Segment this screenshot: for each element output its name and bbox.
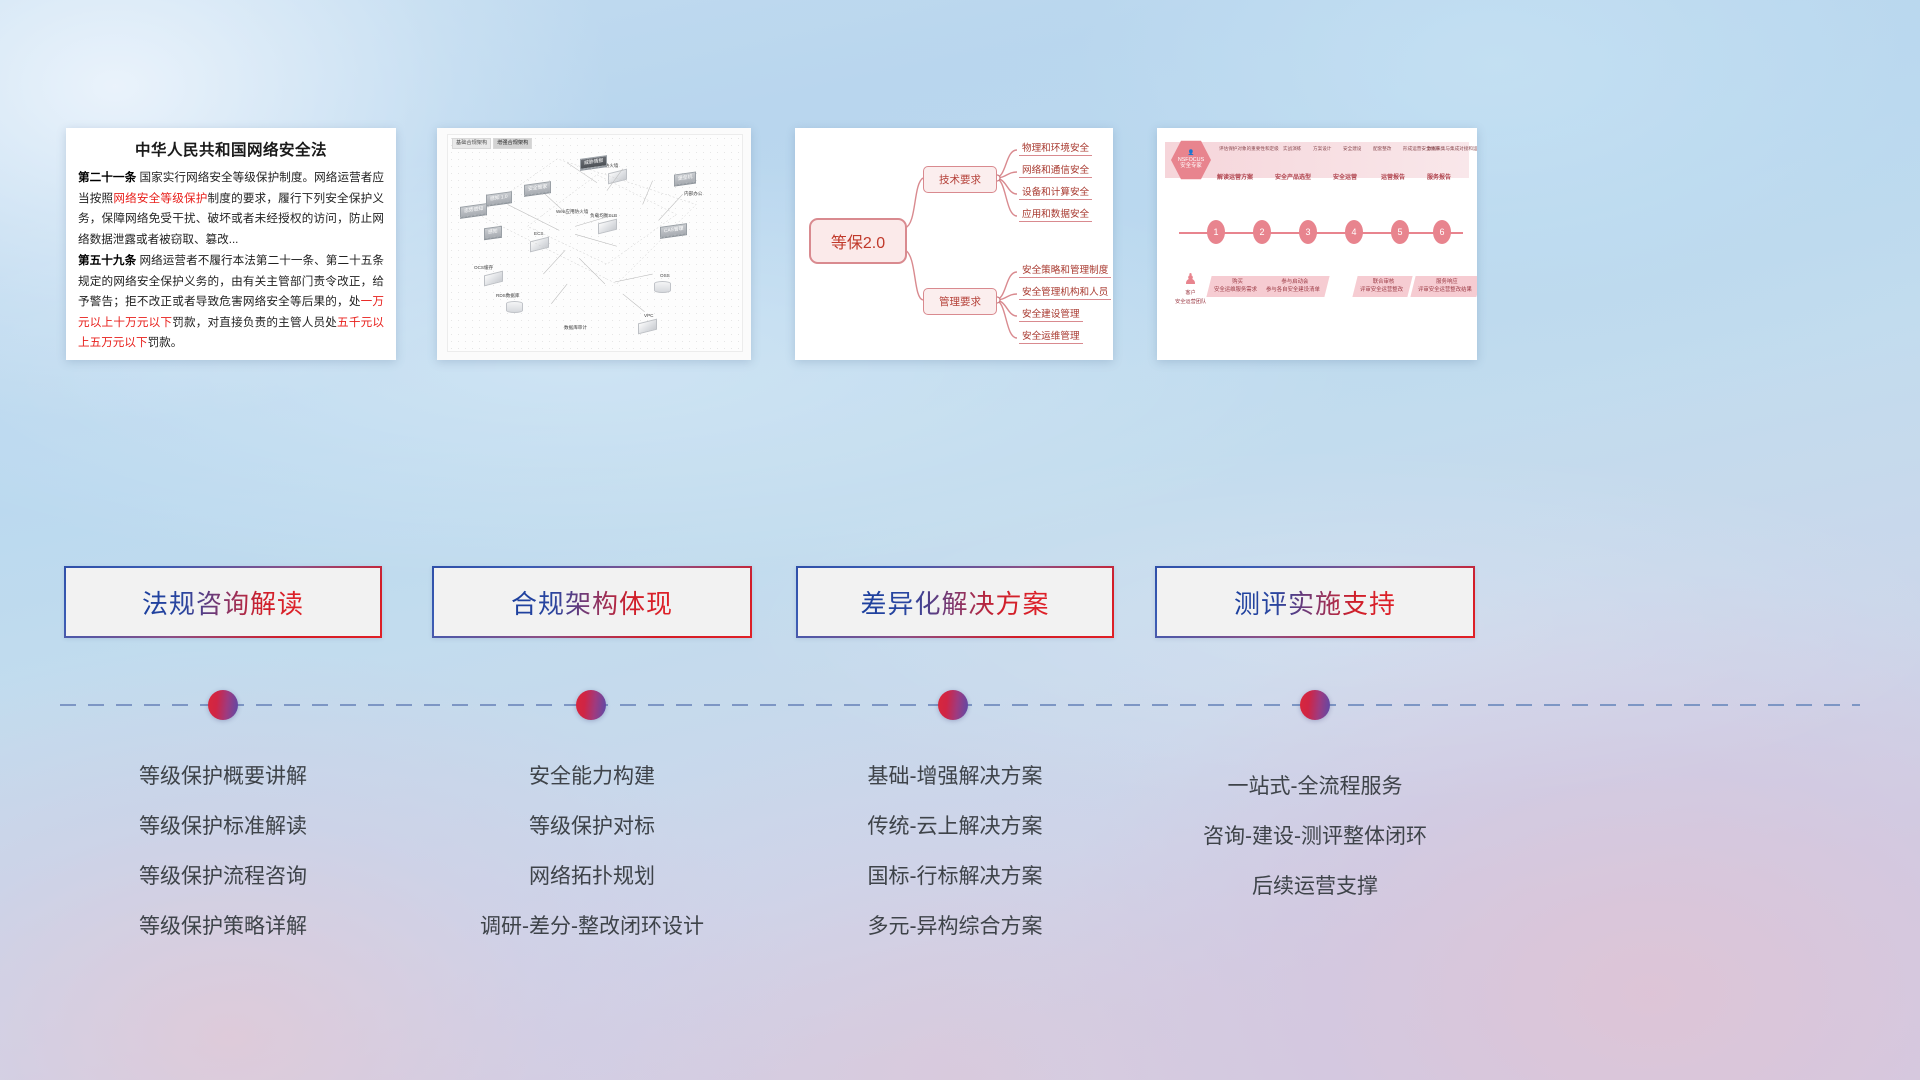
nsfocus-badge: 👤 NSFOCUS 安全专家 — [1171, 140, 1211, 180]
customer-label: 客户 — [1175, 289, 1206, 296]
pillar-title-2: 合规架构体现 — [511, 584, 673, 621]
toplabel-3: 方案设计 — [1313, 146, 1331, 152]
tab-enhanced-compliance[interactable]: 增强合规架构 — [493, 138, 532, 149]
law-article-21: 第二十一条 国家实行网络安全等级保护制度。网络运营者应当按照网络安全等级保护制度… — [78, 168, 384, 250]
roadmap-canvas: 👤 NSFOCUS 安全专家 评估保护对象的重要性和定级 实战演练 方案设计 安… — [1165, 136, 1469, 352]
architecture-tabs[interactable]: 基础合规架构 增强合规架构 — [452, 138, 532, 149]
brand-line-2: 安全专家 — [1180, 163, 1202, 170]
list-item: 等级保护对标 — [432, 802, 752, 852]
card-cybersecurity-law[interactable]: 中华人民共和国网络安全法 第二十一条 国家实行网络安全等级保护制度。网络运营者应… — [66, 128, 396, 360]
list-item: 咨询-建设-测评整体闭环 — [1155, 812, 1475, 862]
leaf-device-compute-security: 设备和计算安全 — [1019, 184, 1092, 200]
pill-joint-review-sub: 评审安全运营整改 — [1360, 287, 1403, 295]
list-item: 安全能力构建 — [432, 752, 752, 802]
list-item: 等级保护策略详解 — [64, 902, 382, 952]
list-item: 等级保护标准解读 — [64, 802, 382, 852]
list-item: 基础-增强解决方案 — [796, 752, 1114, 802]
list-item: 后续运营支撑 — [1155, 862, 1475, 912]
step-node-3: 3 — [1299, 220, 1317, 244]
list-item: 传统-云上解决方案 — [796, 802, 1114, 852]
step-node-4: 4 — [1345, 220, 1363, 244]
pill-service-response-title: 服务响应 — [1420, 279, 1474, 287]
tab-basic-compliance[interactable]: 基础合规架构 — [452, 138, 491, 149]
sublabel-5: 服务报告 — [1427, 172, 1451, 181]
pillar-list-4: 一站式-全流程服务 咨询-建设-测评整体闭环 后续运营支撑 — [1155, 762, 1475, 912]
law-article-59: 第五十九条 网络运营者不履行本法第二十一条、第二十五条规定的网络安全保护义务的，… — [78, 251, 384, 354]
pill-kickoff-sub: 参与各自安全建设清单 — [1266, 287, 1320, 295]
pillar-title-box-3[interactable]: 差异化解决方案 — [796, 566, 1114, 638]
leaf-security-org-people: 安全管理机构和人员 — [1019, 284, 1111, 300]
sublabel-4: 运营报告 — [1381, 172, 1405, 181]
architecture-diagram: 基础合规架构 增强合规架构 — [437, 128, 751, 360]
step-node-6: 6 — [1433, 220, 1451, 244]
sublabel-2: 安全产品选型 — [1275, 172, 1311, 181]
toplabel-2: 实战演练 — [1283, 146, 1301, 152]
list-item: 等级保护概要讲解 — [64, 752, 382, 802]
pillar-title-4: 测评实施支持 — [1234, 584, 1396, 621]
list-item: 调研-差分-整改闭环设计 — [432, 902, 752, 952]
law-title: 中华人民共和国网络安全法 — [78, 138, 384, 160]
leaf-app-data-security: 应用和数据安全 — [1019, 206, 1092, 222]
customer-actor: ♟ 客户 安全运营团队 — [1175, 272, 1206, 305]
mindmap-root: 等保2.0 — [809, 218, 907, 264]
leaf-security-build-mgmt: 安全建设管理 — [1019, 306, 1083, 322]
leaf-security-policy: 安全策略和管理制度 — [1019, 262, 1111, 278]
pill-service-response: 服务响应 评审安全运营整改结果 — [1410, 276, 1477, 297]
mindmap-branch-technical: 技术要求 — [923, 166, 997, 193]
list-item: 等级保护流程咨询 — [64, 852, 382, 902]
person-icon: 👤 — [1188, 150, 1195, 157]
content-stage: 中华人民共和国网络安全法 第二十一条 国家实行网络安全等级保护制度。网络运营者应… — [0, 0, 1920, 1080]
timeline-dot-2[interactable] — [576, 690, 606, 720]
law-document: 中华人民共和国网络安全法 第二十一条 国家实行网络安全等级保护制度。网络运营者应… — [66, 128, 396, 360]
pill-purchase: 购买 安全运维服务需求 — [1206, 276, 1266, 297]
sublabel-1: 解读运营方案 — [1217, 172, 1253, 181]
pillar-title-box-4[interactable]: 测评实施支持 — [1155, 566, 1475, 638]
list-item: 国标-行标解决方案 — [796, 852, 1114, 902]
article-59-text-2: 罚款，对直接负责的主管人员处 — [172, 316, 337, 329]
pillar-list-2: 安全能力构建 等级保护对标 网络拓扑规划 调研-差分-整改闭环设计 — [432, 752, 752, 952]
pill-kickoff: 参与启动会 参与各自安全建设清单 — [1258, 276, 1329, 297]
article-59-text-3: 罚款。 — [148, 336, 183, 349]
mindmap: 等保2.0 技术要求 管理要求 物理和环境安全 网络和通信安全 设备和计算安全 … — [795, 128, 1113, 360]
customer-icon: ♟ — [1175, 272, 1206, 287]
timeline-dot-1[interactable] — [208, 690, 238, 720]
list-item: 一站式-全流程服务 — [1155, 762, 1475, 812]
card-nsfocus-roadmap[interactable]: 👤 NSFOCUS 安全专家 评估保护对象的重要性和定级 实战演练 方案设计 安… — [1157, 128, 1477, 360]
pillar-title-box-2[interactable]: 合规架构体现 — [432, 566, 752, 638]
timeline-dot-4[interactable] — [1300, 690, 1330, 720]
pillar-title-3: 差异化解决方案 — [860, 584, 1049, 621]
leaf-physical-env-security: 物理和环境安全 — [1019, 140, 1092, 156]
pill-joint-review: 联合审核 评审安全运营整改 — [1352, 276, 1412, 297]
toplabel-4: 安全建设 — [1343, 146, 1361, 152]
step-node-5: 5 — [1391, 220, 1409, 244]
toplabel-1: 评估保护对象的重要性和定级 — [1219, 146, 1279, 152]
pill-service-response-sub: 评审安全运营整改结果 — [1418, 287, 1472, 295]
card-mindmap-dengbao[interactable]: 等保2.0 技术要求 管理要求 物理和环境安全 网络和通信安全 设备和计算安全 … — [795, 128, 1113, 360]
step-node-2: 2 — [1253, 220, 1271, 244]
pill-kickoff-title: 参与启动会 — [1268, 279, 1322, 287]
card-cloud-architecture[interactable]: 基础合规架构 增强合规架构 — [437, 128, 751, 360]
pill-joint-review-title: 联合审核 — [1362, 279, 1405, 287]
toplabel-5: 配套整改 — [1373, 146, 1391, 152]
sublabel-3: 安全运营 — [1333, 172, 1357, 181]
pill-purchase-sub: 安全运维服务需求 — [1214, 287, 1257, 295]
pillar-title-box-1[interactable]: 法规咨询解读 — [64, 566, 382, 638]
toplabel-7: 数据采集与集成对接和运营 — [1427, 146, 1477, 152]
article-21-highlight: 网络安全等级保护 — [113, 192, 207, 205]
roadmap-diagram: 👤 NSFOCUS 安全专家 评估保护对象的重要性和定级 实战演练 方案设计 安… — [1157, 128, 1477, 360]
hex-badge: 👤 NSFOCUS 安全专家 — [1171, 140, 1211, 180]
article-59-label: 第五十九条 — [78, 254, 136, 267]
article-21-label: 第二十一条 — [78, 171, 136, 184]
step-node-1: 1 — [1207, 220, 1225, 244]
customer-sub: 安全运营团队 — [1175, 298, 1206, 305]
pillar-list-1: 等级保护概要讲解 等级保护标准解读 等级保护流程咨询 等级保护策略详解 — [64, 752, 382, 952]
leaf-network-comm-security: 网络和通信安全 — [1019, 162, 1092, 178]
architecture-canvas: 基础合规架构 增强合规架构 — [447, 134, 743, 352]
mindmap-branch-management: 管理要求 — [923, 288, 997, 315]
pillar-list-3: 基础-增强解决方案 传统-云上解决方案 国标-行标解决方案 多元-异构综合方案 — [796, 752, 1114, 952]
list-item: 网络拓扑规划 — [432, 852, 752, 902]
pill-purchase-title: 购买 — [1216, 279, 1259, 287]
timeline-dot-3[interactable] — [938, 690, 968, 720]
list-item: 多元-异构综合方案 — [796, 902, 1114, 952]
pillar-title-1: 法规咨询解读 — [142, 584, 304, 621]
leaf-security-ops-mgmt: 安全运维管理 — [1019, 328, 1083, 344]
